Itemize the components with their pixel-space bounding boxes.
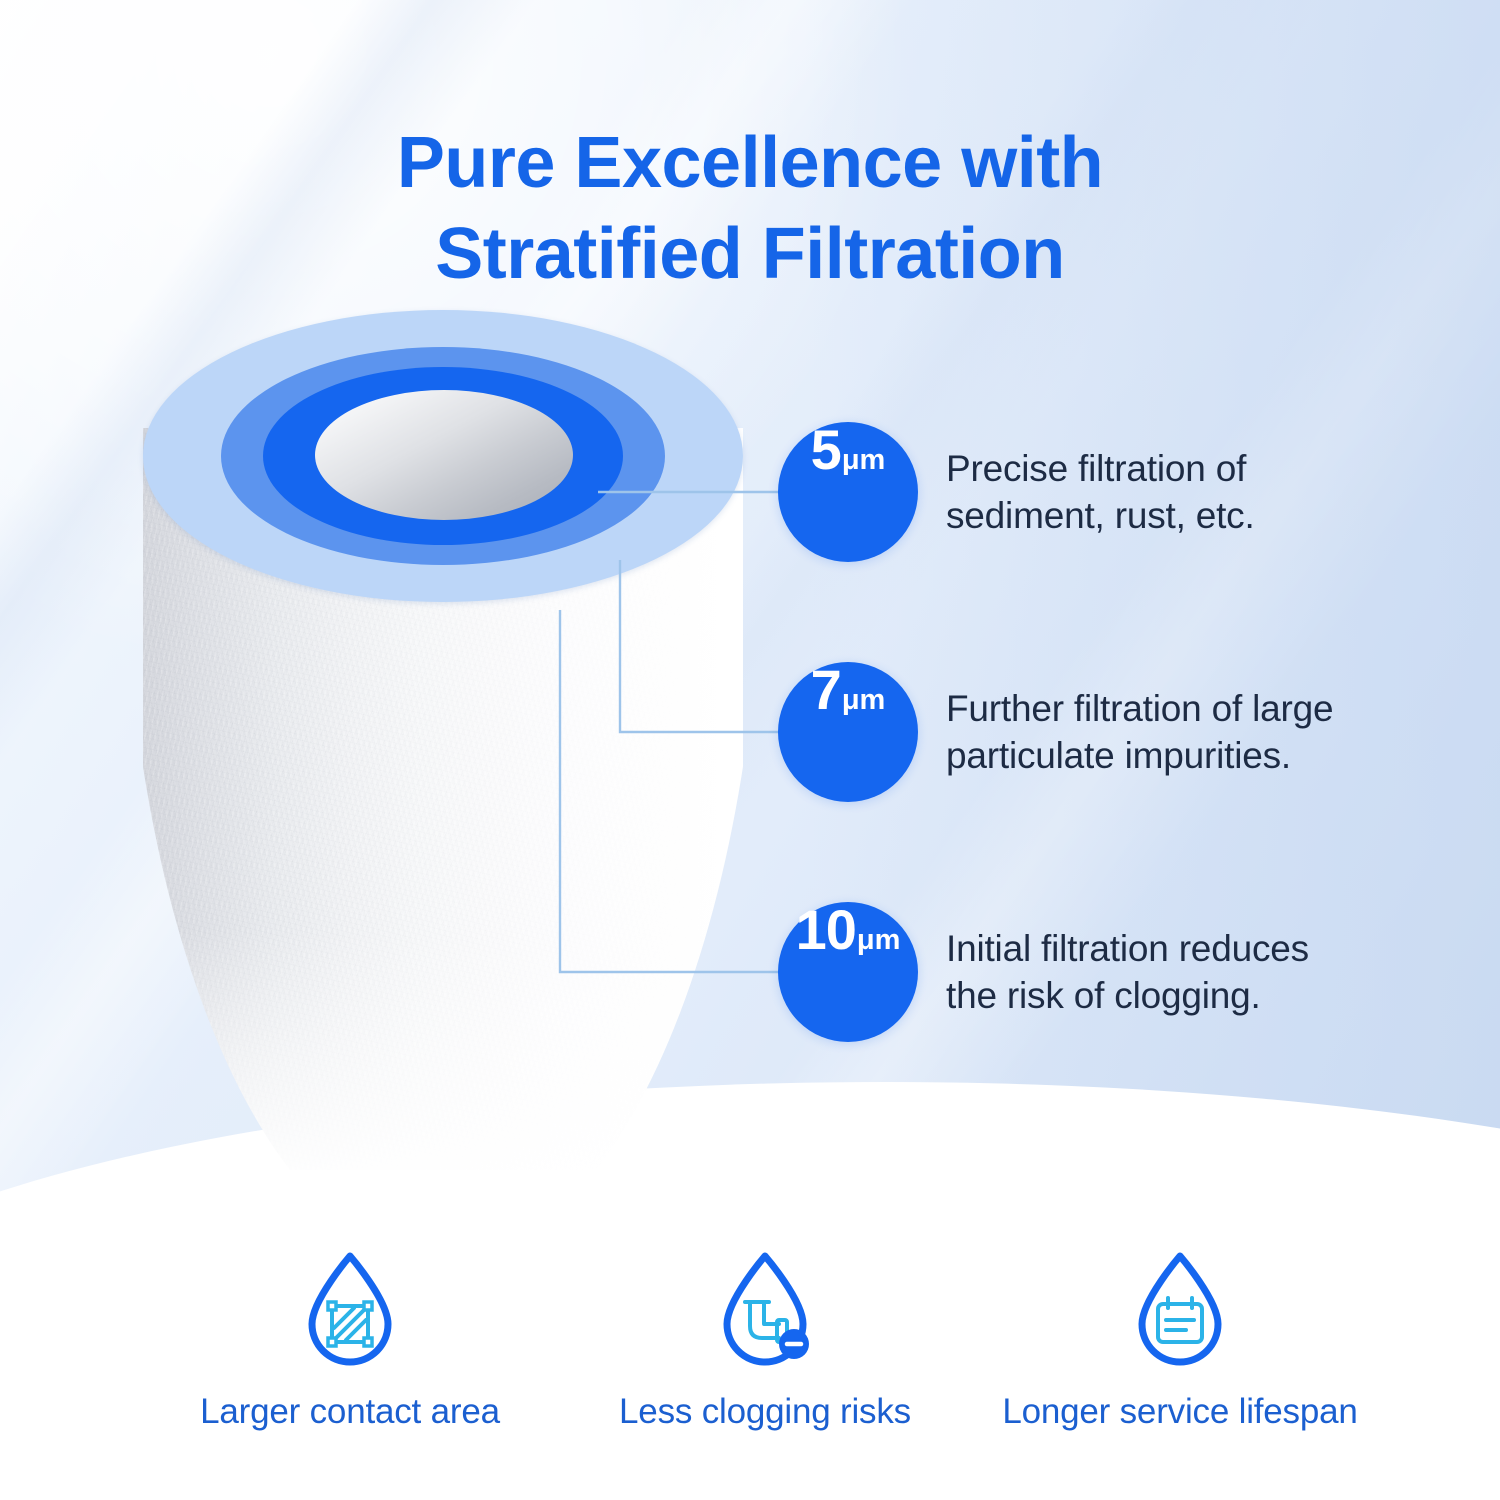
infographic-page: Pure Excellence with Stratified Filtrati… [0, 0, 1500, 1500]
badge-value: 5 [811, 422, 841, 478]
droplet-pipe-block-icon [711, 1248, 819, 1372]
page-title: Pure Excellence with Stratified Filtrati… [0, 118, 1500, 299]
page-title-line-2: Stratified Filtration [0, 209, 1500, 300]
badge-5um: 5μm [778, 422, 918, 562]
badge-7um: 7μm [778, 662, 918, 802]
feature-list: Larger contact area Less clogging risks [150, 1248, 1380, 1432]
feature-lifespan[interactable]: Longer service lifespan [980, 1248, 1380, 1432]
badge-unit: μm [857, 926, 901, 955]
cartridge-bottom-fade [143, 930, 743, 1170]
cartridge-core-hole [315, 390, 573, 520]
badge-unit: μm [842, 686, 886, 715]
badge-value: 7 [811, 662, 841, 718]
badge-value: 10 [796, 902, 856, 958]
feature-contact-area[interactable]: Larger contact area [150, 1248, 550, 1432]
callout-7um[interactable]: 7μm Further filtration of large particul… [778, 662, 1333, 802]
feature-label: Less clogging risks [619, 1392, 911, 1432]
badge-10um: 10μm [778, 902, 918, 1042]
feature-clogging[interactable]: Less clogging risks [565, 1248, 965, 1432]
feature-label: Larger contact area [200, 1392, 500, 1432]
droplet-area-icon [296, 1248, 404, 1372]
page-title-line-1: Pure Excellence with [397, 123, 1103, 203]
callout-10um-text: Initial filtration reduces the risk of c… [946, 925, 1309, 1020]
droplet-calendar-icon [1126, 1248, 1234, 1372]
feature-label: Longer service lifespan [1002, 1392, 1357, 1432]
badge-unit: μm [842, 446, 886, 475]
callout-5um-text: Precise filtration of sediment, rust, et… [946, 445, 1255, 540]
callout-5um[interactable]: 5μm Precise filtration of sediment, rust… [778, 422, 1255, 562]
filter-cartridge-illustration [143, 310, 743, 1170]
callout-7um-text: Further filtration of large particulate … [946, 685, 1333, 780]
callout-10um[interactable]: 10μm Initial filtration reduces the risk… [778, 902, 1309, 1042]
